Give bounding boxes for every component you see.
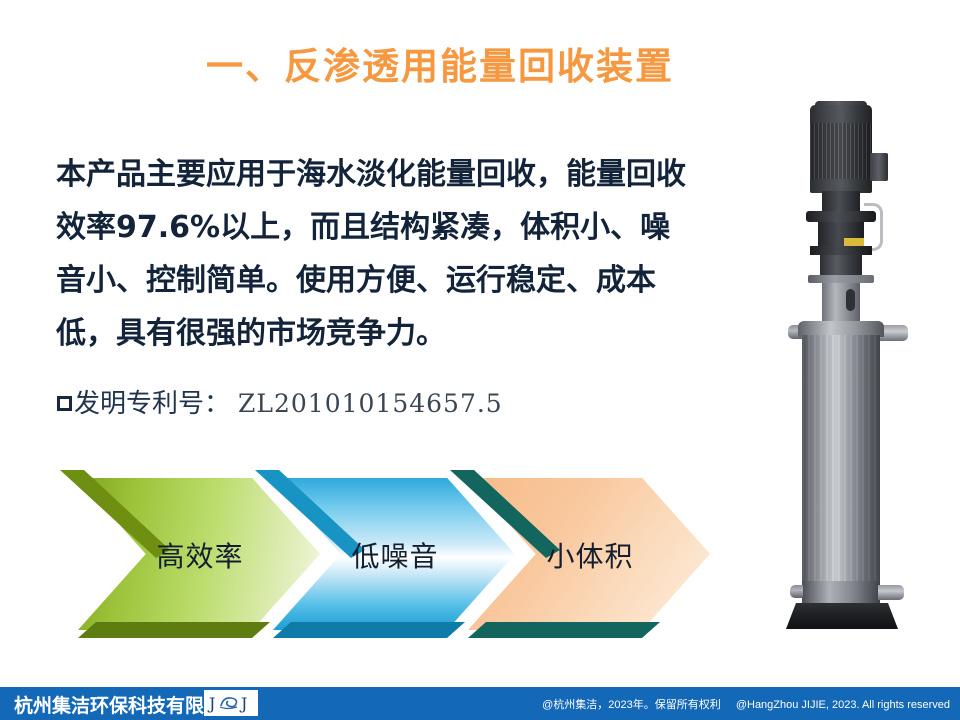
motor-neck bbox=[822, 191, 860, 213]
jijie-logo-icon: J J bbox=[207, 693, 255, 713]
upper-right-nozzle bbox=[880, 325, 908, 341]
chevron-step-3-label: 小体积 bbox=[450, 470, 692, 640]
patent-line: 发明专利号： ZL201010154657.5 bbox=[57, 383, 503, 420]
seal-chamber bbox=[820, 255, 862, 277]
footer-copyright-en: @HangZhou JIJIE, 2023. All rights reserv… bbox=[736, 699, 950, 711]
yellow-nameplate bbox=[844, 238, 864, 246]
chevron-step-3: 小体积 bbox=[450, 470, 710, 640]
mounting-plate bbox=[808, 275, 874, 283]
footer-bar: 杭州集洁环保科技有限公司 J J @杭州集洁，2023年。保留所有权利 @Han… bbox=[0, 687, 960, 720]
chevron-process-row: 高效率 低噪音 小体积 bbox=[0, 470, 720, 645]
lower-right-nozzle bbox=[878, 585, 904, 600]
footer-copyright-cn: @杭州集洁，2023年。保留所有权利 bbox=[542, 699, 721, 711]
base-plate bbox=[786, 603, 898, 629]
terminal-box bbox=[870, 153, 888, 181]
bleed-handle bbox=[864, 203, 883, 251]
vessel-shading bbox=[802, 335, 880, 585]
svg-text:J: J bbox=[207, 694, 215, 713]
square-bullet-icon bbox=[57, 396, 72, 411]
svg-text:J: J bbox=[239, 694, 247, 713]
footer-copyright: @杭州集洁，2023年。保留所有权利 @HangZhou JIJIE, 2023… bbox=[542, 696, 950, 712]
product-photo bbox=[760, 105, 920, 660]
stem-window bbox=[846, 289, 855, 311]
mid-flange bbox=[810, 246, 872, 255]
slide-canvas: 一、反渗透用能量回收装置 本产品主要应用于海水淡化能量回收，能量回收效率97.6… bbox=[0, 0, 960, 720]
page-title: 一、反渗透用能量回收装置 bbox=[0, 36, 880, 90]
patent-number: ZL201010154657.5 bbox=[238, 389, 503, 418]
lower-left-nozzle bbox=[790, 585, 803, 598]
body-paragraph: 本产品主要应用于海水淡化能量回收，能量回收效率97.6%以上，而且结构紧凑，体积… bbox=[56, 148, 686, 360]
motor-cooling-fins bbox=[810, 123, 872, 179]
patent-label: 发明专利号： bbox=[74, 383, 230, 420]
company-logo: J J bbox=[204, 690, 258, 716]
